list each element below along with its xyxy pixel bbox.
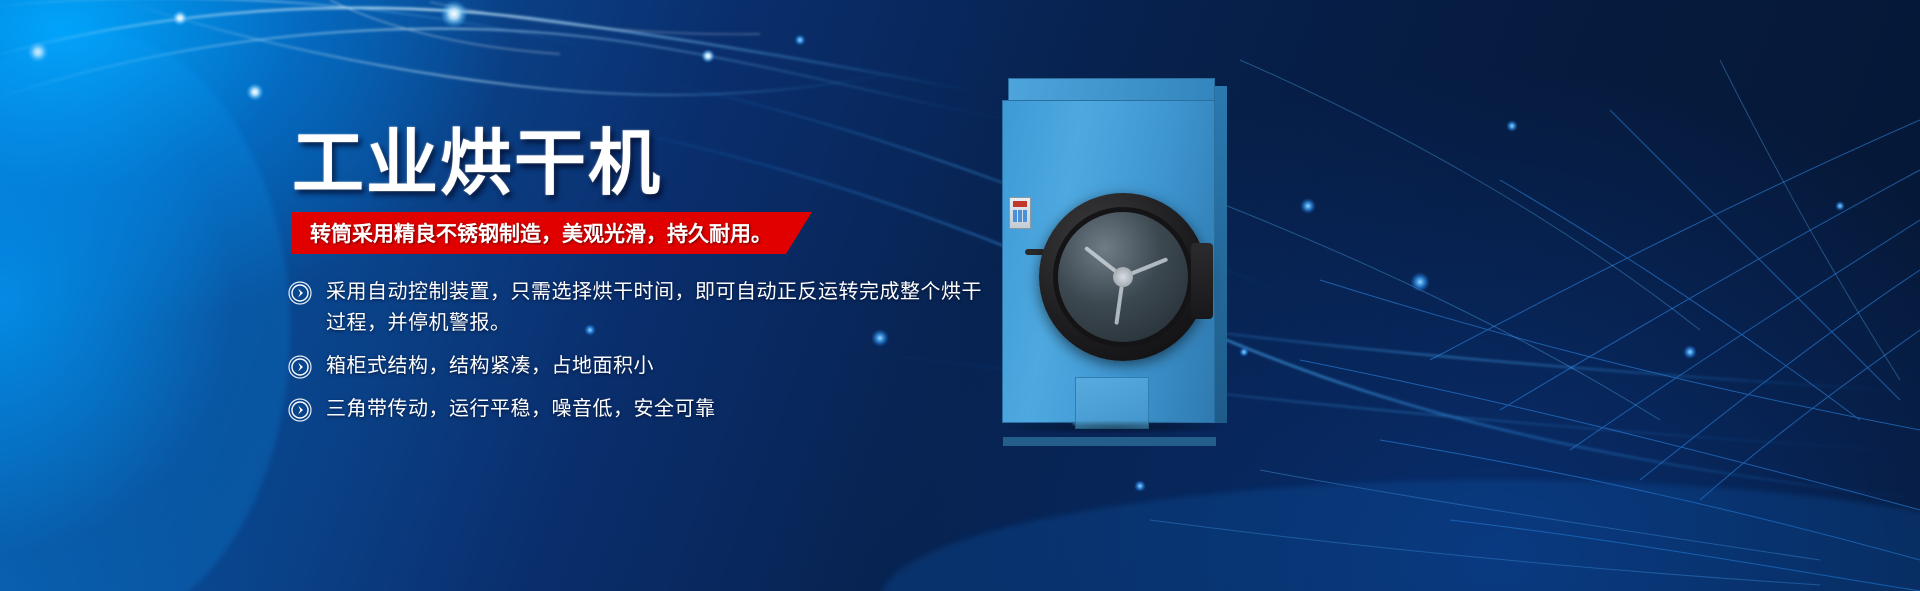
circle-chevron-right-icon: [288, 281, 312, 305]
feature-text: 采用自动控制装置，只需选择烘干时间，即可自动正反运转完成整个烘干过程，并停机警报…: [326, 277, 988, 339]
machine-top-panel: [1008, 78, 1215, 102]
drum-viewing-glass: [1053, 207, 1193, 347]
feature-item: 采用自动控制装置，只需选择烘干时间，即可自动正反运转完成整个烘干过程，并停机警报…: [288, 277, 988, 339]
circle-chevron-right-icon: [288, 398, 312, 422]
banner-title: 工业烘干机: [292, 128, 662, 200]
drum-door-ring: [1039, 193, 1207, 361]
door-handle-icon: [1191, 243, 1213, 319]
circle-chevron-right-icon: [288, 355, 312, 379]
tagline-bar: 转筒采用精良不锈钢制造，美观光滑，持久耐用。: [292, 212, 812, 254]
machine-base: [1003, 437, 1216, 446]
machine-cabinet: [1002, 100, 1215, 423]
banner-text-block: 工业烘干机 转筒采用精良不锈钢制造，美观光滑，持久耐用。 采用自动控制装置，只需…: [0, 0, 1000, 591]
machine-side-panel: [1215, 86, 1227, 423]
tagline-text: 转筒采用精良不锈钢制造，美观光滑，持久耐用。: [310, 218, 772, 248]
product-hero-banner: 工业烘干机 转筒采用精良不锈钢制造，美观光滑，持久耐用。 采用自动控制装置，只需…: [0, 0, 1920, 591]
feature-list: 采用自动控制装置，只需选择烘干时间，即可自动正反运转完成整个烘干过程，并停机警报…: [288, 277, 988, 425]
feature-item: 三角带传动，运行平稳，噪音低，安全可靠: [288, 394, 988, 425]
feature-text: 三角带传动，运行平稳，噪音低，安全可靠: [326, 394, 716, 425]
dryer-machine-image: [1002, 78, 1227, 423]
machine-shadow: [996, 420, 1232, 434]
control-panel-icon: [1009, 197, 1031, 229]
feature-item: 箱柜式结构，结构紧凑，占地面积小: [288, 351, 988, 382]
feature-text: 箱柜式结构，结构紧凑，占地面积小: [326, 351, 654, 382]
